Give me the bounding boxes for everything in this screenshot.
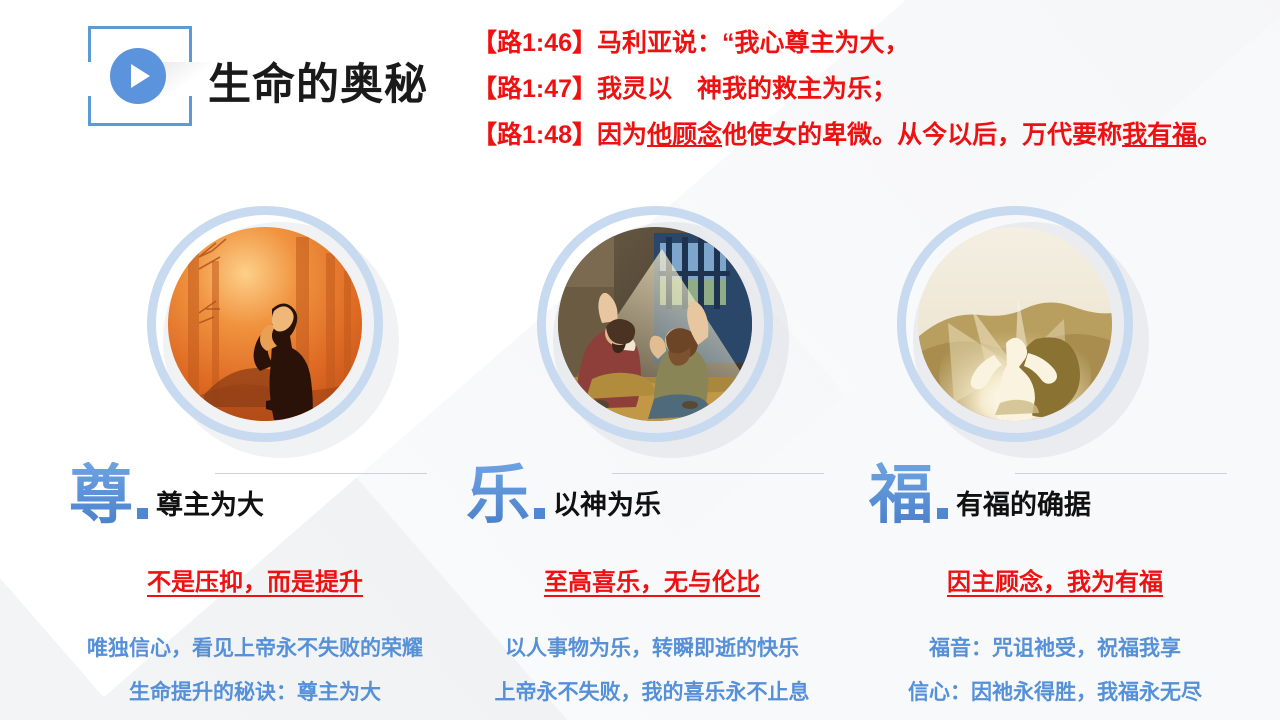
scripture-line-3: 【路1:48】因为他顾念他使女的卑微。从今以后，万代要称我有福。 xyxy=(472,112,1272,158)
scripture-ref-2: 【路1:47】 xyxy=(472,75,597,103)
image-circle-1 xyxy=(147,206,383,442)
column-heading-2: 乐 以神为乐 xyxy=(466,462,661,528)
praying-figure-forest-image xyxy=(168,227,362,421)
image-circle-3 xyxy=(897,206,1133,442)
column-body-line-3a: 福音：咒诅祂受，祝福我享 xyxy=(855,627,1255,671)
scripture-ref-3: 【路1:48】 xyxy=(472,121,597,149)
square-dot-icon-2 xyxy=(534,508,545,519)
column-body-line-1b: 生命提升的秘诀：尊主为大 xyxy=(55,671,455,715)
column-red-headline-1: 不是压抑，而是提升 xyxy=(55,562,455,597)
column-body-line-2b: 上帝永不失败，我的喜乐永不止息 xyxy=(452,671,852,715)
scripture-line-1: 【路1:46】马利亚说：“我心尊主为大， xyxy=(472,20,1272,66)
resurrection-empty-tomb-image xyxy=(918,227,1112,421)
column-body-line-1a: 唯独信心，看见上帝永不失败的荣耀 xyxy=(55,627,455,671)
logo-circle-icon xyxy=(110,48,166,104)
prison-praise-painting-image xyxy=(558,227,752,421)
scripture-text-2: 我灵以 神我的救主为乐； xyxy=(597,75,897,103)
scripture-line-2: 【路1:47】我灵以 神我的救主为乐； xyxy=(472,66,1272,112)
column-red-headline-3: 因主顾念，我为有福 xyxy=(855,562,1255,597)
square-dot-icon-3 xyxy=(937,508,948,519)
square-dot-icon-1 xyxy=(137,508,148,519)
scripture-text-3c: 。 xyxy=(1197,121,1222,149)
column-body-line-2a: 以人事物为乐，转瞬即逝的快乐 xyxy=(452,627,852,671)
column-heading-1: 尊 尊主为大 xyxy=(69,462,264,528)
presentation-slide: 生命的奥秘 【路1:46】马利亚说：“我心尊主为大， 【路1:47】我灵以 神我… xyxy=(0,0,1280,720)
play-triangle-icon xyxy=(131,64,150,88)
image-circle-2 xyxy=(537,206,773,442)
scripture-text-3b: 他使女的卑微。从今以后，万代要称 xyxy=(722,121,1122,149)
column-subtitle-2: 以神为乐 xyxy=(553,488,661,528)
column-red-headline-2: 至高喜乐，无与伦比 xyxy=(452,562,852,597)
column-body-3: 福音：咒诅祂受，祝福我享 信心：因祂永得胜，我福永无尽 xyxy=(855,627,1255,715)
scripture-block: 【路1:46】马利亚说：“我心尊主为大， 【路1:47】我灵以 神我的救主为乐；… xyxy=(472,20,1272,158)
scripture-underline-1: 他顾念 xyxy=(647,121,722,149)
scripture-underline-2: 我有福 xyxy=(1122,121,1197,149)
column-subtitle-1: 尊主为大 xyxy=(156,488,264,528)
column-body-1: 唯独信心，看见上帝永不失败的荣耀 生命提升的秘诀：尊主为大 xyxy=(55,627,455,715)
play-button-logo-icon xyxy=(88,26,192,126)
scripture-text-3a: 因为 xyxy=(597,121,647,149)
column-body-2: 以人事物为乐，转瞬即逝的快乐 上帝永不失败，我的喜乐永不止息 xyxy=(452,627,852,715)
column-subtitle-3: 有福的确据 xyxy=(956,488,1091,528)
column-big-char-3: 福 xyxy=(869,462,933,528)
column-body-line-3b: 信心：因祂永得胜，我福永无尽 xyxy=(855,671,1255,715)
column-heading-3: 福 有福的确据 xyxy=(869,462,1091,528)
column-big-char-1: 尊 xyxy=(69,462,133,528)
page-title: 生命的奥秘 xyxy=(208,50,428,112)
scripture-ref-1: 【路1:46】 xyxy=(472,29,597,57)
column-big-char-2: 乐 xyxy=(466,462,530,528)
scripture-text-1: 马利亚说：“我心尊主为大， xyxy=(597,29,910,57)
